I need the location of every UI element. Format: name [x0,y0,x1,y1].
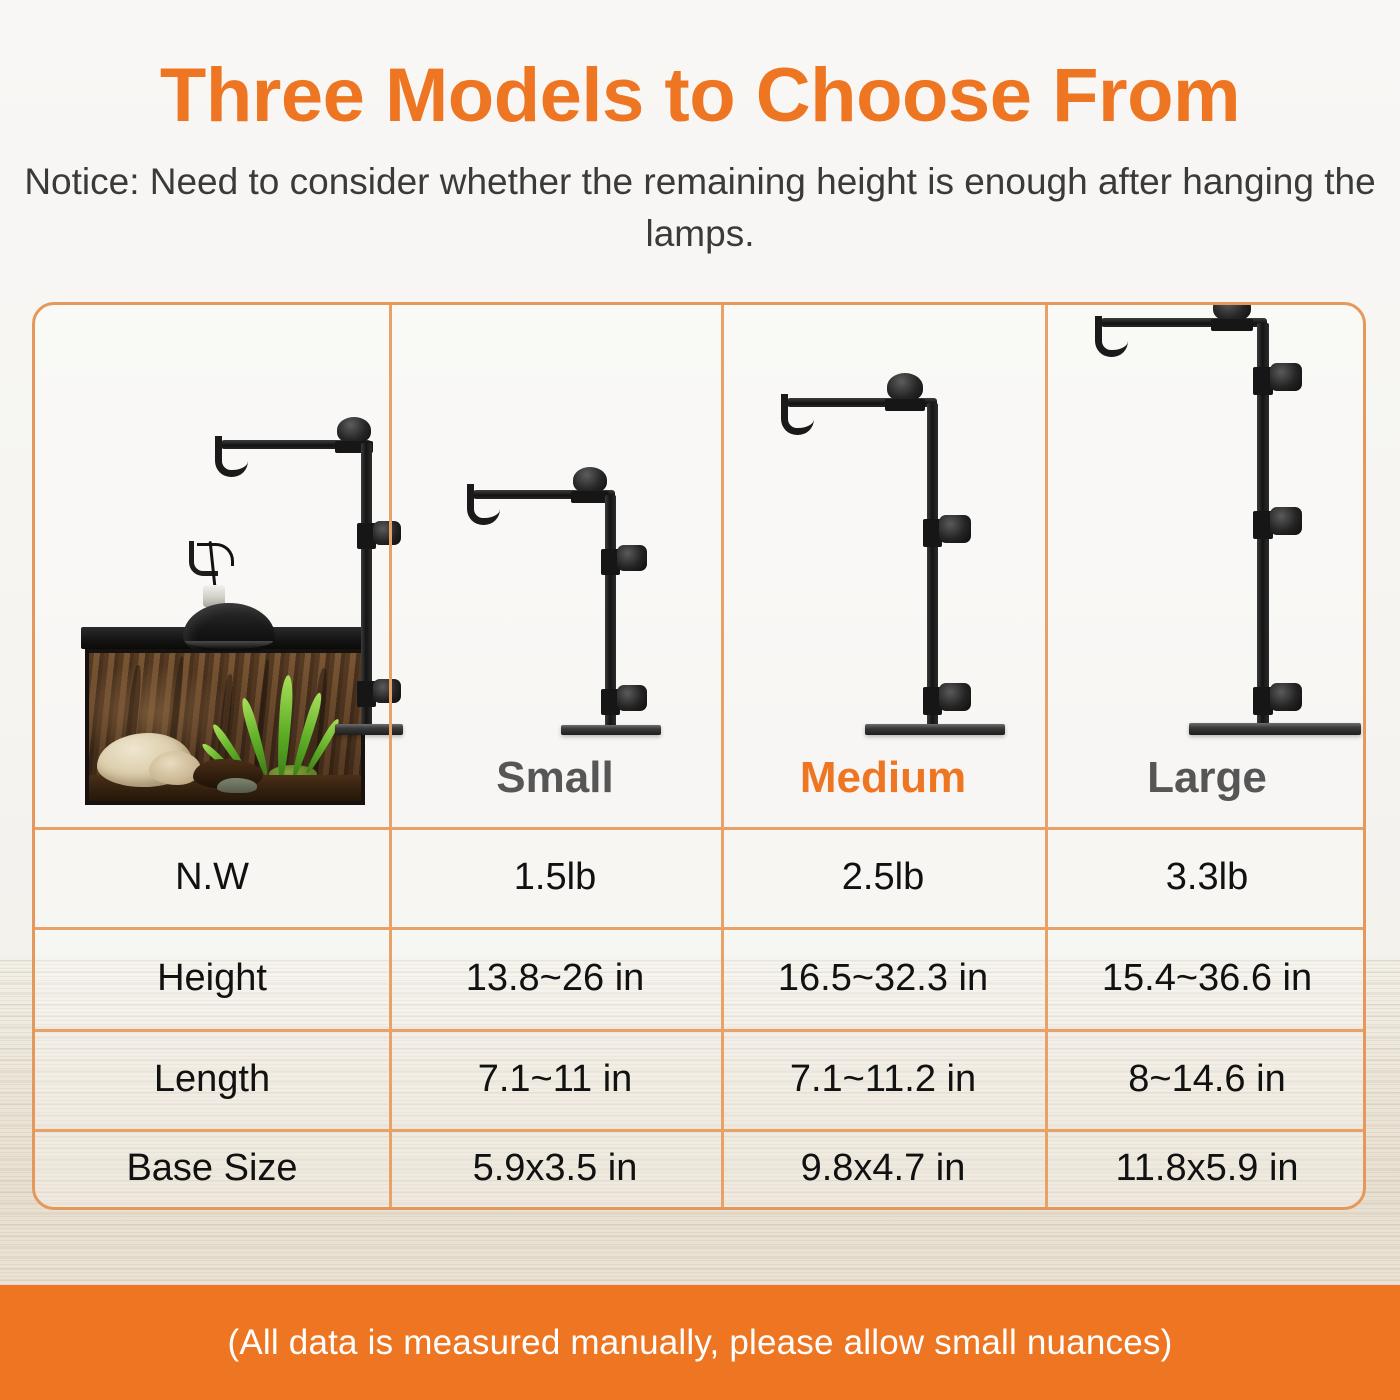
footer-banner: (All data is measured manually, please a… [0,1285,1400,1400]
cell-length-medium: 7.1~11.2 in [721,1029,1045,1129]
small-illustration-cell: Small [389,305,721,827]
cell-base-size-medium: 9.8x4.7 in [721,1129,1045,1207]
cell-nw-large: 3.3lb [1045,827,1366,927]
cell-nw-small: 1.5lb [389,827,721,927]
cell-length-large: 8~14.6 in [1045,1029,1366,1129]
lizard [217,778,257,793]
row-label-length: Length [35,1029,389,1129]
cell-length-small: 7.1~11 in [389,1029,721,1129]
page-title: Three Models to Choose From [0,0,1400,136]
medium-lamp-stand [721,335,1045,735]
large-lamp-stand [1045,335,1366,735]
page-subtitle: Notice: Need to consider whether the rem… [0,136,1400,261]
model-name-medium: Medium [721,753,1045,803]
footer-note: (All data is measured manually, please a… [228,1323,1173,1363]
model-name-large: Large [1045,753,1366,803]
terrarium-lamp-stand [35,335,389,735]
large-illustration-cell: Large [1045,305,1366,827]
terrarium-illustration-cell [35,305,389,827]
row-label-base-size: Base Size [35,1129,389,1207]
row-label-nw: N.W [35,827,389,927]
cell-height-large: 15.4~36.6 in [1045,927,1366,1029]
small-lamp-stand [389,335,721,735]
cell-base-size-small: 5.9x3.5 in [389,1129,721,1207]
medium-illustration-cell: Medium [721,305,1045,827]
cell-nw-medium: 2.5lb [721,827,1045,927]
header: Three Models to Choose From Notice: Need… [0,0,1400,261]
cell-base-size-large: 11.8x5.9 in [1045,1129,1366,1207]
model-name-small: Small [389,753,721,803]
cell-height-medium: 16.5~32.3 in [721,927,1045,1029]
cell-height-small: 13.8~26 in [389,927,721,1029]
row-label-height: Height [35,927,389,1029]
specification-table: Small Medium [32,302,1366,1210]
